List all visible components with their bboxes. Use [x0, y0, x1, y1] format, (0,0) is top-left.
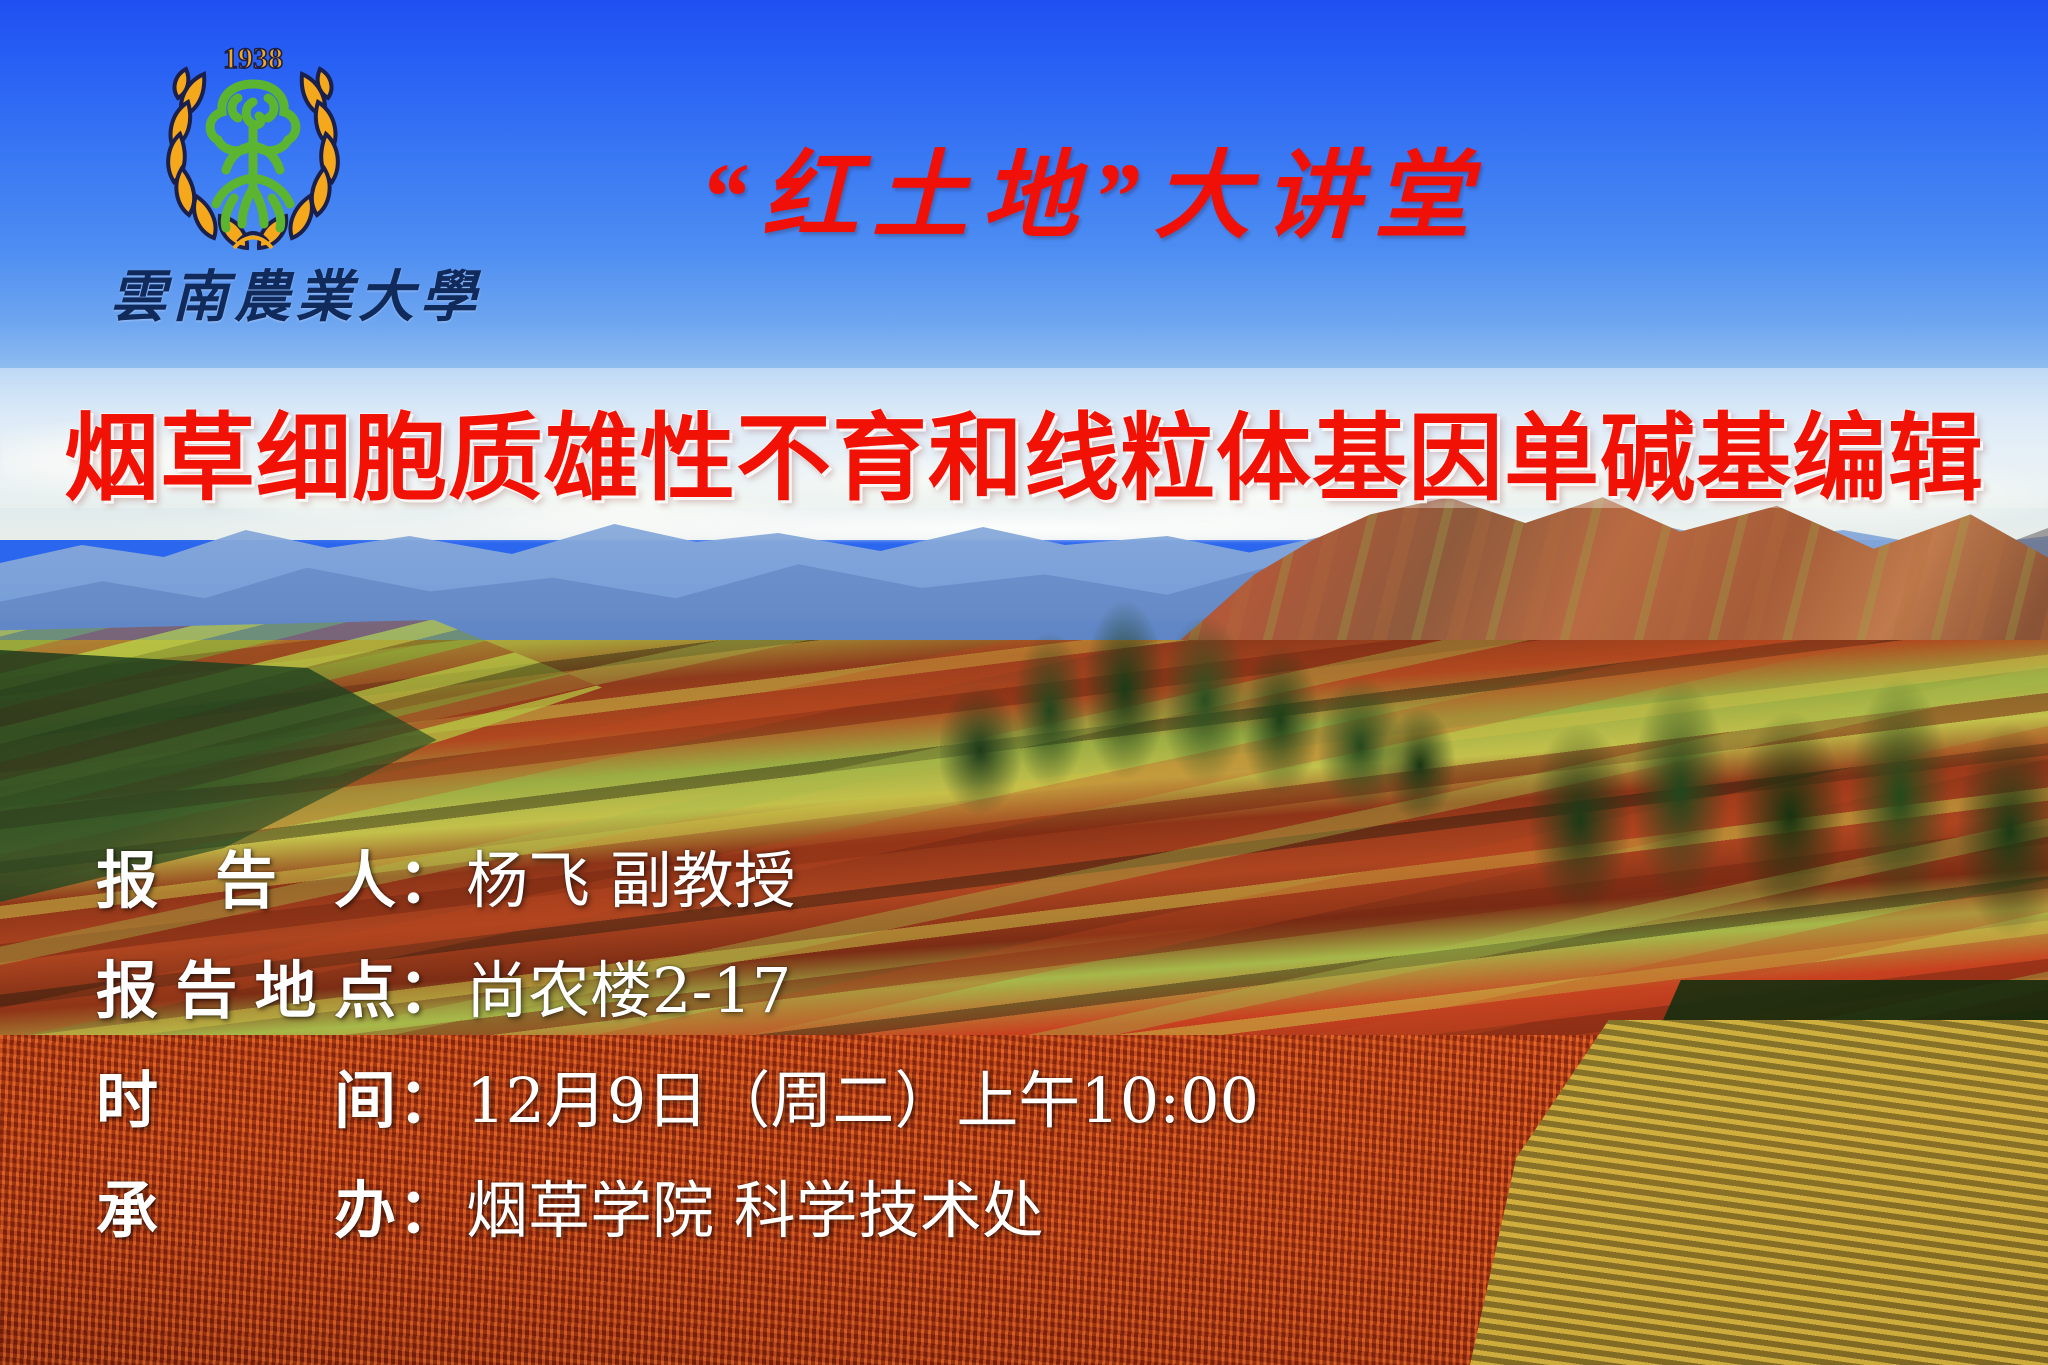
- detail-colon-speaker: ：: [396, 830, 466, 920]
- detail-colon-organizer: ：: [396, 1160, 466, 1250]
- detail-row-time: 时间 ： 12月9日（周二）上午10:00: [96, 1050, 1496, 1160]
- university-name: 雲南農業大學: [110, 252, 430, 333]
- detail-value-time: 12月9日（周二）上午10:00: [466, 1050, 1259, 1140]
- conifer-grove-right: [1520, 620, 2048, 1040]
- detail-colon-location: ：: [396, 940, 466, 1030]
- lecture-details: 报告人 ： 杨飞 副教授 报告地点 ： 尚农楼2-17 时间 ： 12月9日（周…: [96, 830, 1496, 1270]
- lecture-title: 烟草细胞质雄性不育和线粒体基因单碱基编辑: [0, 382, 2048, 519]
- conifer-grove: [940, 560, 1460, 840]
- detail-row-location: 报告地点 ： 尚农楼2-17: [96, 940, 1496, 1050]
- detail-colon-time: ：: [396, 1050, 466, 1140]
- detail-value-speaker: 杨飞 副教授: [466, 830, 796, 920]
- lecture-series-title: “红土地”大讲堂: [700, 118, 1484, 257]
- lecture-poster: 1938 雲南農業大學 “红土地”大讲堂 烟草细胞质雄性不育和线粒体基因单碱基编…: [0, 0, 2048, 1365]
- detail-value-organizer: 烟草学院 科学技术处: [466, 1160, 1044, 1250]
- detail-row-organizer: 承办 ： 烟草学院 科学技术处: [96, 1160, 1496, 1270]
- detail-row-speaker: 报告人 ： 杨飞 副教授: [96, 830, 1496, 940]
- university-emblem-icon: 1938: [138, 28, 368, 258]
- detail-value-location: 尚农楼2-17: [466, 940, 791, 1030]
- detail-label-organizer: 承办: [96, 1160, 396, 1250]
- detail-label-speaker: 报告人: [96, 830, 396, 920]
- detail-label-location: 报告地点: [96, 940, 396, 1030]
- emblem-year-text: 1938: [223, 42, 283, 75]
- detail-label-time: 时间: [96, 1050, 396, 1140]
